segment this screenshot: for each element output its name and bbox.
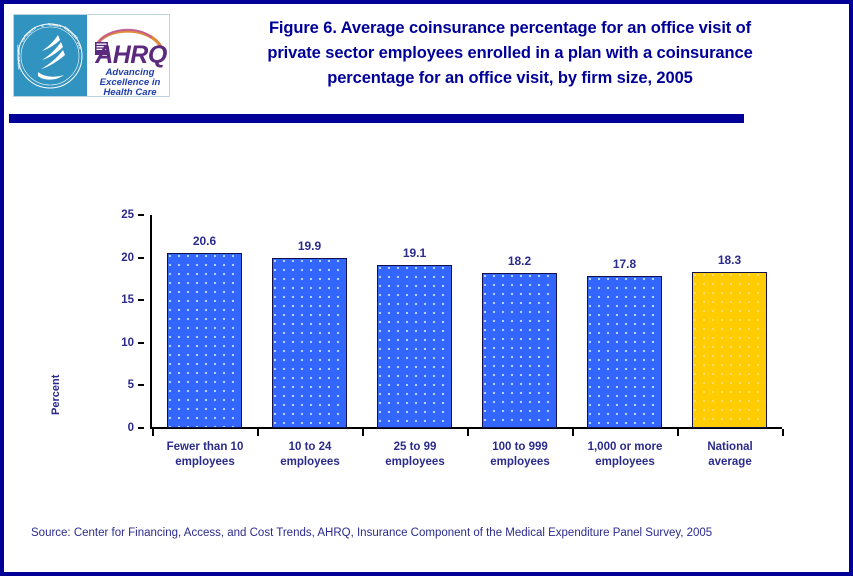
y-axis-ticks: 0510152025 [99,207,144,437]
x-tick-mark [362,429,364,436]
bar-group: 19.9 [257,215,362,428]
svg-text:AHRQ: AHRQ [94,41,168,69]
y-tick-mark [138,214,144,216]
svg-text:DEPARTMENT: DEPARTMENT [17,44,22,70]
bar-chart: Percent 0510152025 20.619.919.118.217.81… [4,129,849,499]
figure-page: DEPARTMENT OF HEALTH & HUMAN SERVICES US… [0,0,853,576]
bar-group: 18.3 [677,215,782,428]
bar-group: 20.6 [152,215,257,428]
bar-value-label: 18.2 [467,254,572,268]
bar-group: 19.1 [362,215,467,428]
svg-text:HEALTH: HEALTH [23,26,37,39]
bar[interactable] [377,265,452,428]
figure-title-line-2: private sector employees enrolled in a p… [180,41,840,66]
hhs-seal-icon: DEPARTMENT OF HEALTH & HUMAN SERVICES US… [14,15,87,96]
ahrq-wordmark: AHRQ Advancing Excellence in Health Care [87,15,169,96]
y-tick-label: 15 [98,295,134,305]
x-axis-label-line: employees [461,455,579,470]
plot-area: 20.619.919.118.217.818.3 [152,215,782,428]
y-tick-mark [138,299,144,301]
bar[interactable] [587,276,662,428]
x-tick-mark [152,429,154,436]
y-tick-label: 25 [98,210,134,220]
x-axis-label: Fewer than 10employees [146,440,264,470]
x-axis-label-line: employees [146,455,264,470]
figure-header: DEPARTMENT OF HEALTH & HUMAN SERVICES US… [4,4,849,110]
y-tick-mark [138,384,144,386]
x-tick-mark [572,429,574,436]
x-axis-label-line: 1,000 or more [566,440,684,455]
bar[interactable] [482,273,557,428]
x-axis-label-line: 25 to 99 [356,440,474,455]
x-tick-mark [257,429,259,436]
bar-value-label: 20.6 [152,234,257,248]
x-tick-mark [677,429,679,436]
y-tick-mark [138,427,144,429]
figure-title-line-1: Figure 6. Average coinsurance percentage… [180,16,840,41]
bar-value-label: 17.8 [572,257,677,271]
x-axis-label-line: employees [251,455,369,470]
x-axis-label: Nationalaverage [671,440,789,470]
x-axis-label-line: 100 to 999 [461,440,579,455]
svg-text:Health Care: Health Care [103,87,157,96]
x-axis-label: 10 to 24employees [251,440,369,470]
ahrq-logo: DEPARTMENT OF HEALTH & HUMAN SERVICES US… [13,14,170,97]
y-tick-label: 0 [98,423,134,433]
bar[interactable] [692,272,767,428]
bar-group: 17.8 [572,215,677,428]
x-tick-mark [467,429,469,436]
source-note: Source: Center for Financing, Access, an… [31,527,712,539]
x-axis-label-line: 10 to 24 [251,440,369,455]
x-axis-label: 1,000 or moreemployees [566,440,684,470]
y-tick-mark [138,342,144,344]
bar-value-label: 19.1 [362,246,467,260]
bar-group: 18.2 [467,215,572,428]
x-axis-label-line: employees [356,455,474,470]
y-tick-label: 20 [98,253,134,263]
header-divider [9,114,744,123]
bar-value-label: 18.3 [677,253,782,267]
x-tick-mark [782,429,784,436]
x-axis-label: 25 to 99employees [356,440,474,470]
bar-value-label: 19.9 [257,239,362,253]
figure-title: Figure 6. Average coinsurance percentage… [180,16,840,91]
x-axis-label-line: average [671,455,789,470]
y-tick-label: 10 [98,338,134,348]
x-axis-label-line: National [671,440,789,455]
bar[interactable] [167,253,242,429]
y-tick-mark [138,257,144,259]
x-axis-label: 100 to 999employees [461,440,579,470]
bar[interactable] [272,258,347,428]
x-axis-label-line: employees [566,455,684,470]
figure-title-line-3: percentage for an office visit, by firm … [180,66,840,91]
svg-text:SERVICES: SERVICES [63,25,80,40]
x-axis-label-line: Fewer than 10 [146,440,264,455]
y-tick-label: 5 [98,380,134,390]
y-axis-label: Percent [50,391,62,415]
